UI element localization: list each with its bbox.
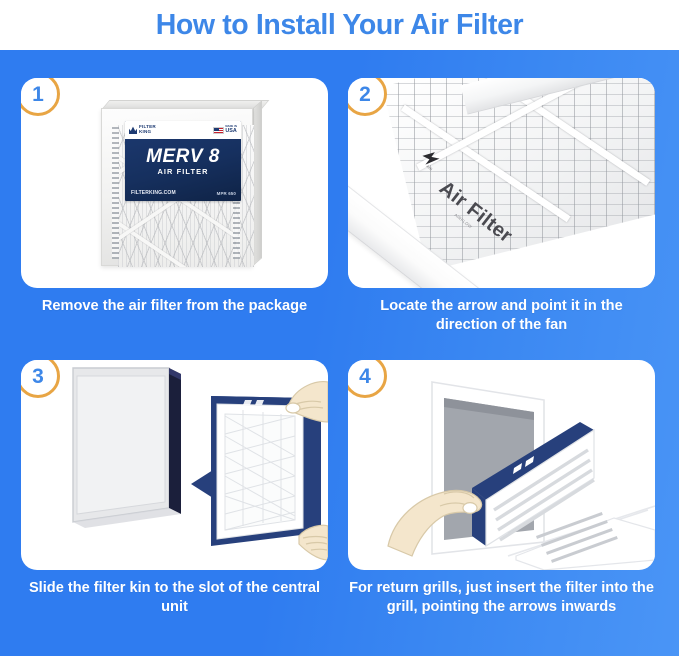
steps-grid: 1 <box>0 50 679 656</box>
usa-text: USA <box>225 128 236 134</box>
step-4-card: 4 <box>348 360 655 570</box>
step-2-number: 2 <box>359 84 371 105</box>
step-3-caption: Slide the filter kin to the slot of the … <box>21 579 328 618</box>
infographic-poster: How to Install Your Air Filter 1 <box>0 0 679 656</box>
product-label-header: FILTER KING MADE IN USA <box>125 121 241 139</box>
step-4-illustration <box>348 360 655 570</box>
step-2-illustration: AIR Air Filter AIRFLOW <box>348 78 655 288</box>
step-1-illustration: FILTER KING MADE IN USA <box>21 78 328 288</box>
product-subtitle: AIR FILTER <box>125 168 241 175</box>
made-in-usa-mark: MADE IN USA <box>213 126 237 134</box>
step-3-card: 3 <box>21 360 328 570</box>
product-label: FILTER KING MADE IN USA <box>125 121 241 201</box>
filter-king-logo: FILTER KING <box>129 125 156 135</box>
slide-filter-into-unit-illustration <box>21 360 328 570</box>
step-1-caption: Remove the air filter from the package <box>21 297 328 316</box>
merv-rating: MERV 8 <box>125 147 241 166</box>
step-4-caption: For return grills, just insert the filte… <box>348 579 655 618</box>
crown-icon <box>129 126 137 134</box>
step-3: 3 <box>21 360 328 618</box>
step-4-number: 4 <box>359 366 371 387</box>
step-1: 1 <box>21 78 328 316</box>
header: How to Install Your Air Filter <box>0 0 679 50</box>
step-1-card: 1 <box>21 78 328 288</box>
step-3-number: 3 <box>32 366 44 387</box>
brand-name: FILTER KING <box>139 125 156 135</box>
filter-pleat-comb-left <box>112 127 119 259</box>
page-title: How to Install Your Air Filter <box>156 9 524 42</box>
filter-corner-arrow-photo: AIR Air Filter AIRFLOW <box>348 78 655 288</box>
made-in-usa-text: MADE IN USA <box>225 126 237 134</box>
product-mpr: MPR 650 <box>217 191 236 196</box>
step-3-illustration <box>21 360 328 570</box>
central-unit-body <box>73 368 181 528</box>
step-1-number: 1 <box>32 84 44 105</box>
product-label-footer: FILTERKING.COM MPR 650 <box>131 190 236 196</box>
step-4: 4 <box>348 360 655 618</box>
product-website: FILTERKING.COM <box>131 190 176 196</box>
merv8-filter-photo: FILTER KING MADE IN USA <box>93 100 261 268</box>
filter-side-face <box>253 100 262 266</box>
step-2-card: 2 AIR <box>348 78 655 288</box>
step-2: 2 AIR <box>348 78 655 336</box>
step-2-caption: Locate the arrow and point it in the dir… <box>348 297 655 336</box>
usa-flag-icon <box>213 127 224 134</box>
brand-line-2: KING <box>139 129 151 134</box>
filter-with-blue-frame <box>211 396 321 546</box>
insert-filter-return-grill-illustration <box>348 360 655 570</box>
filter-front-frame: FILTER KING MADE IN USA <box>101 108 253 266</box>
